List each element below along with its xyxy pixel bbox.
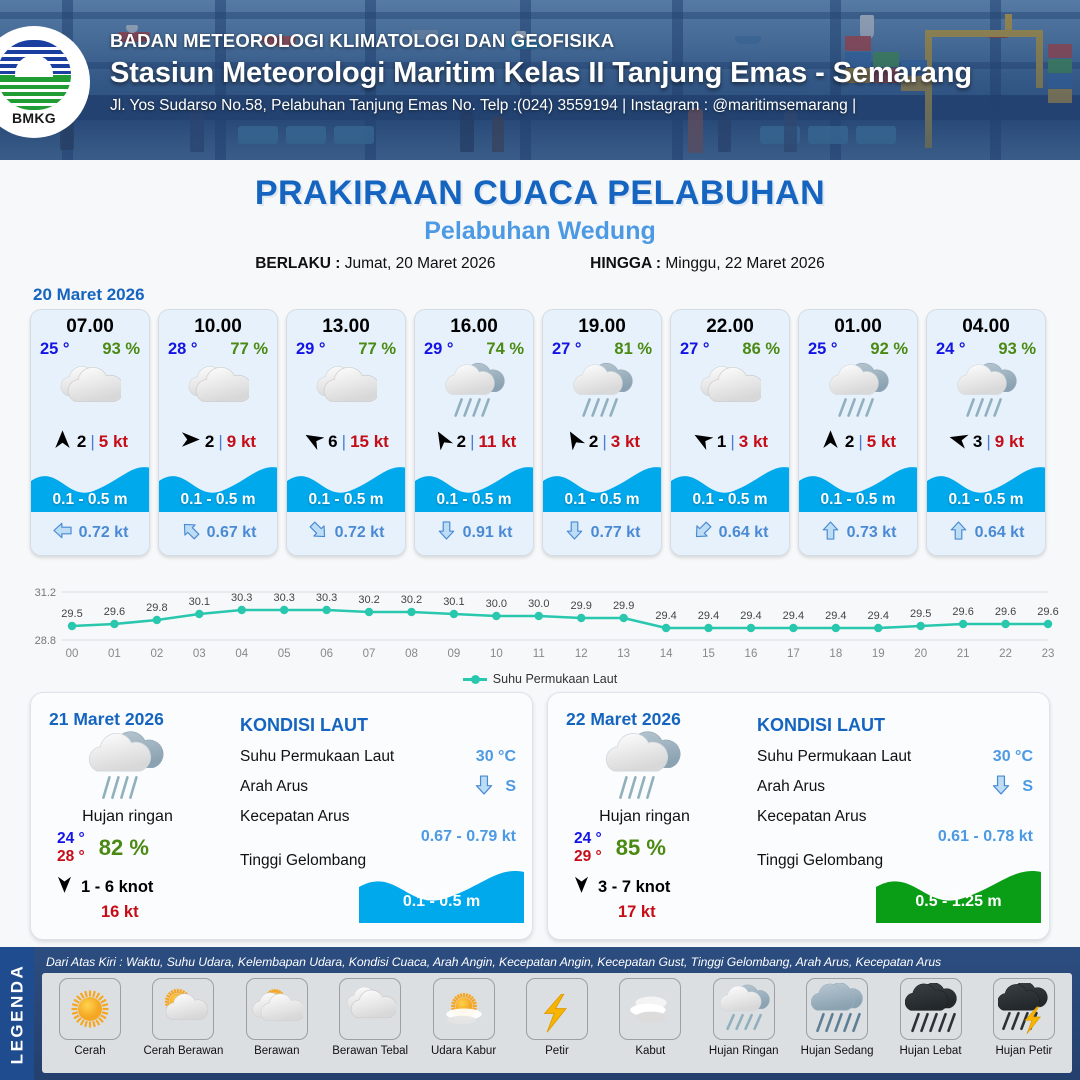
- bmkg-logo-text: BMKG: [0, 110, 71, 126]
- wind-direction-icon: [52, 429, 73, 450]
- legend-item-label: Kabut: [608, 1045, 692, 1057]
- validity-range: BERLAKU : Jumat, 20 Maret 2026 HINGGA : …: [0, 255, 1080, 273]
- legend-item-icon: [526, 978, 588, 1040]
- svg-text:29.4: 29.4: [868, 610, 889, 622]
- current-direction-icon: [820, 520, 841, 541]
- svg-text:29.4: 29.4: [825, 610, 846, 622]
- svg-text:29.5: 29.5: [910, 608, 931, 620]
- wind-separator: |: [730, 432, 734, 452]
- forecast-card: 13.00 29 ° 77 % 6 | 15 kt: [286, 309, 406, 556]
- panel-wind-arrow-icon: [55, 875, 74, 899]
- page-title: PRAKIRAAN CUACA PELABUHAN: [0, 174, 1080, 213]
- wind-arrow-icon: [432, 429, 453, 455]
- panel-condition: Hujan ringan: [49, 808, 236, 826]
- wind-speed: 5 kt: [99, 432, 128, 452]
- header-address: Jl. Yos Sudarso No.58, Pelabuhan Tanjung…: [110, 97, 1070, 115]
- legend-item-label: Hujan Ringan: [702, 1045, 786, 1057]
- current-speed-label: Kecepatan Arus: [240, 808, 349, 826]
- current-info: 0.73 kt: [799, 520, 917, 546]
- svg-text:22: 22: [999, 648, 1012, 660]
- svg-text:15: 15: [702, 648, 715, 660]
- svg-text:05: 05: [278, 648, 291, 660]
- air-temperature: 27 °: [552, 340, 582, 359]
- svg-text:08: 08: [405, 648, 418, 660]
- legend-item-icon: [152, 978, 214, 1040]
- air-temperature: 27 °: [680, 340, 710, 359]
- svg-text:20: 20: [914, 648, 927, 660]
- legend-item: Hujan Lebat: [889, 978, 973, 1057]
- svg-text:02: 02: [150, 648, 163, 660]
- forecast-card: 16.00 29 ° 74 % 2 | 11 kt: [414, 309, 534, 556]
- legend-item-label: Udara Kabur: [422, 1045, 506, 1057]
- panel-condition: Hujan ringan: [566, 808, 753, 826]
- legend-item: Kabut: [608, 978, 692, 1057]
- svg-text:17: 17: [787, 648, 800, 660]
- header-station-name: Stasiun Meteorologi Maritim Kelas II Tan…: [110, 57, 1070, 90]
- air-temperature: 25 °: [808, 340, 838, 359]
- legend-item: Hujan Petir: [982, 978, 1066, 1057]
- wind-direction-icon: [432, 429, 453, 450]
- wind-speed: 3 kt: [739, 432, 768, 452]
- svg-text:19: 19: [872, 648, 885, 660]
- weather-condition-icon: [159, 359, 277, 425]
- air-temperature: 29 °: [296, 340, 326, 359]
- wind-separator: |: [986, 432, 990, 452]
- sst-chart-legend: Suhu Permukaan Laut: [0, 672, 1080, 686]
- wind-speed: 5 kt: [867, 432, 896, 452]
- panel-wind-arrow-icon: [572, 875, 591, 899]
- current-speed: 0.91 kt: [463, 524, 513, 542]
- forecast-card: 22.00 27 ° 86 % 1 | 3 kt 0: [670, 309, 790, 556]
- panel-wind: 1 - 6 knot: [49, 875, 236, 899]
- current-arrow-icon: [52, 520, 73, 546]
- current-dir-value: S: [1022, 778, 1033, 796]
- legend-item: Hujan Sedang: [795, 978, 879, 1057]
- forecast-time: 22.00: [671, 310, 789, 338]
- legend-item-label: Hujan Lebat: [889, 1045, 973, 1057]
- wind-direction-icon: [692, 429, 713, 450]
- svg-text:14: 14: [660, 648, 673, 660]
- current-direction-icon: [473, 774, 495, 796]
- wave-height-label: Tinggi Gelombang: [757, 852, 883, 870]
- svg-text:07: 07: [363, 648, 376, 660]
- panel-humidity: 85 %: [616, 835, 666, 861]
- weather-condition-icon: [927, 359, 1045, 425]
- wind-direction-icon: [303, 429, 324, 450]
- forecast-time: 16.00: [415, 310, 533, 338]
- current-dir-label: Arah Arus: [757, 778, 825, 796]
- page-header: BMKG BADAN METEOROLOGI KLIMATOLOGI DAN G…: [0, 0, 1080, 160]
- wind-direction-icon: [180, 429, 201, 450]
- svg-text:00: 00: [66, 648, 79, 660]
- svg-text:21: 21: [957, 648, 970, 660]
- legend-item-label: Petir: [515, 1045, 599, 1057]
- wind-speed: 3 kt: [611, 432, 640, 452]
- forecast-day-label: 20 Maret 2026: [33, 285, 1080, 305]
- wind-info: 1 | 3 kt: [671, 425, 789, 459]
- current-speed: 0.67 kt: [207, 524, 257, 542]
- svg-text:16: 16: [745, 648, 758, 660]
- legend-item: Cerah Berawan: [141, 978, 225, 1057]
- legend-item-label: Hujan Sedang: [795, 1045, 879, 1057]
- sst-chart: 31.228.829.50029.60129.80230.10330.30430…: [20, 566, 1060, 671]
- svg-text:10: 10: [490, 648, 503, 660]
- current-info: 0.64 kt: [671, 520, 789, 546]
- legend-item-label: Cerah Berawan: [141, 1045, 225, 1057]
- panel-temp-min: 24 °: [57, 830, 85, 848]
- wind-info: 2 | 5 kt: [31, 425, 149, 459]
- wave-height-label: Tinggi Gelombang: [240, 852, 366, 870]
- panel-gust: 17 kt: [566, 903, 753, 922]
- wind-scale: 2: [77, 432, 86, 452]
- current-dir-label: Arah Arus: [240, 778, 308, 796]
- current-arrow-icon: [308, 520, 329, 546]
- legend-item: Cerah: [48, 978, 132, 1057]
- current-speed: 0.64 kt: [975, 524, 1025, 542]
- current-dir-value: S: [505, 778, 516, 796]
- svg-text:30.2: 30.2: [401, 594, 422, 606]
- svg-text:30.0: 30.0: [528, 598, 549, 610]
- sst-value: 30 °C: [993, 748, 1033, 766]
- sst-legend-marker-icon: [463, 678, 487, 681]
- wind-scale: 2: [457, 432, 466, 452]
- title-section: PRAKIRAAN CUACA PELABUHAN Pelabuhan Wedu…: [0, 160, 1080, 273]
- wind-separator: |: [602, 432, 606, 452]
- wind-info: 2 | 11 kt: [415, 425, 533, 459]
- wind-speed: 9 kt: [995, 432, 1024, 452]
- svg-text:29.9: 29.9: [613, 600, 634, 612]
- svg-text:01: 01: [108, 648, 121, 660]
- svg-text:29.4: 29.4: [783, 610, 804, 622]
- wave-height: 0.1 - 0.5 m: [415, 491, 533, 509]
- legend-item: Berawan: [235, 978, 319, 1057]
- current-info: 0.77 kt: [543, 520, 661, 546]
- legend-item-icon: [339, 978, 401, 1040]
- panel-date: 22 Maret 2026: [566, 709, 753, 730]
- forecast-time: 01.00: [799, 310, 917, 338]
- daily-panel-list: 21 Maret 2026 Hujan ringan 24 ° 28 ° 82 …: [0, 686, 1080, 940]
- wind-info: 2 | 5 kt: [799, 425, 917, 459]
- wave-height: 0.1 - 0.5 m: [287, 491, 405, 509]
- bmkg-logo-circle: [0, 40, 71, 110]
- svg-text:29.8: 29.8: [146, 602, 167, 614]
- weather-condition-icon: [287, 359, 405, 425]
- wind-separator: |: [342, 432, 346, 452]
- forecast-card: 04.00 24 ° 93 % 3 | 9 kt 0: [926, 309, 1046, 556]
- panel-wave-graphic: 0.5 - 1.25 m: [876, 865, 1041, 923]
- current-direction-icon: [692, 520, 713, 541]
- humidity: 86 %: [742, 340, 780, 359]
- legend-item-icon: [59, 978, 121, 1040]
- weather-condition-icon: [31, 359, 149, 425]
- legend-item-label: Berawan: [235, 1045, 319, 1057]
- legend-item-icon: [806, 978, 868, 1040]
- panel-gust: 16 kt: [49, 903, 236, 922]
- air-temperature: 24 °: [936, 340, 966, 359]
- svg-text:30.3: 30.3: [273, 592, 294, 604]
- panel-temp-min: 24 °: [574, 830, 602, 848]
- forecast-time: 07.00: [31, 310, 149, 338]
- current-arrow-icon: [180, 520, 201, 546]
- wind-direction-icon: [564, 429, 585, 450]
- legend-item: Petir: [515, 978, 599, 1057]
- current-speed: 0.72 kt: [79, 524, 129, 542]
- wind-speed: 9 kt: [227, 432, 256, 452]
- wind-scale: 2: [589, 432, 598, 452]
- wave-height: 0.1 - 0.5 m: [671, 491, 789, 509]
- svg-text:29.6: 29.6: [1037, 606, 1058, 618]
- current-arrow-icon: [692, 520, 713, 546]
- wind-separator: |: [218, 432, 222, 452]
- panel-wave-value: 0.1 - 0.5 m: [359, 893, 524, 911]
- current-direction-icon: [990, 774, 1012, 796]
- svg-text:29.6: 29.6: [952, 606, 973, 618]
- legend-item: Berawan Tebal: [328, 978, 412, 1057]
- wind-arrow-icon: [948, 429, 969, 455]
- svg-text:18: 18: [829, 648, 842, 660]
- legend-icon-strip: Cerah Cerah Berawan Beraw: [42, 973, 1072, 1073]
- wind-scale: 6: [328, 432, 337, 452]
- panel-wave-graphic: 0.1 - 0.5 m: [359, 865, 524, 923]
- header-organization: BADAN METEOROLOGI KLIMATOLOGI DAN GEOFIS…: [110, 30, 1070, 52]
- legend-item: Hujan Ringan: [702, 978, 786, 1057]
- sst-chart-svg: 31.228.829.50029.60129.80230.10330.30430…: [20, 566, 1060, 666]
- svg-text:30.3: 30.3: [231, 592, 252, 604]
- svg-text:04: 04: [235, 648, 248, 660]
- forecast-time: 13.00: [287, 310, 405, 338]
- air-temperature: 25 °: [40, 340, 70, 359]
- wind-info: 2 | 3 kt: [543, 425, 661, 459]
- legend-item-icon: [619, 978, 681, 1040]
- current-arrow-icon: [564, 520, 585, 546]
- svg-text:29.9: 29.9: [571, 600, 592, 612]
- weather-condition-icon: [543, 359, 661, 425]
- current-speed-value: 0.67 - 0.79 kt: [240, 828, 516, 846]
- current-speed: 0.77 kt: [591, 524, 641, 542]
- weather-condition-icon: [671, 359, 789, 425]
- hingga-label: HINGGA :: [590, 255, 661, 272]
- svg-text:29.6: 29.6: [104, 606, 125, 618]
- svg-text:30.3: 30.3: [316, 592, 337, 604]
- legend-tab: LEGENDA: [0, 947, 34, 1080]
- panel-weather-icon: [49, 732, 236, 804]
- wind-scale: 2: [205, 432, 214, 452]
- wave-height: 0.1 - 0.5 m: [543, 491, 661, 509]
- wind-arrow-icon: [180, 429, 201, 455]
- panel-weather-icon: [566, 732, 753, 804]
- svg-text:06: 06: [320, 648, 333, 660]
- wind-info: 6 | 15 kt: [287, 425, 405, 459]
- svg-text:12: 12: [575, 648, 588, 660]
- air-temperature: 28 °: [168, 340, 198, 359]
- forecast-time: 19.00: [543, 310, 661, 338]
- berlaku-label: BERLAKU :: [255, 255, 340, 272]
- humidity: 92 %: [870, 340, 908, 359]
- weather-condition-icon: [415, 359, 533, 425]
- forecast-card: 07.00 25 ° 93 % 2 | 5 kt 0: [30, 309, 150, 556]
- wind-speed: 11 kt: [479, 432, 517, 452]
- wind-arrow-icon: [52, 429, 73, 455]
- wind-arrow-icon: [820, 429, 841, 455]
- current-speed-value: 0.61 - 0.78 kt: [757, 828, 1033, 846]
- svg-text:29.6: 29.6: [995, 606, 1016, 618]
- svg-text:29.4: 29.4: [698, 610, 719, 622]
- panel-temp-max: 28 °: [57, 848, 85, 866]
- wind-scale: 2: [845, 432, 854, 452]
- svg-text:30.0: 30.0: [486, 598, 507, 610]
- current-speed: 0.72 kt: [335, 524, 385, 542]
- panel-date: 21 Maret 2026: [49, 709, 236, 730]
- sst-label: Suhu Permukaan Laut: [757, 748, 911, 766]
- sst-value: 30 °C: [476, 748, 516, 766]
- wind-direction-icon: [55, 875, 74, 894]
- legend-item-icon: [900, 978, 962, 1040]
- forecast-card: 01.00 25 ° 92 % 2 | 5 kt 0: [798, 309, 918, 556]
- current-direction-icon: [52, 520, 73, 541]
- daily-forecast-panel: 21 Maret 2026 Hujan ringan 24 ° 28 ° 82 …: [30, 692, 533, 940]
- forecast-time: 10.00: [159, 310, 277, 338]
- air-temperature: 29 °: [424, 340, 454, 359]
- wave-height: 0.1 - 0.5 m: [927, 491, 1045, 509]
- weather-condition-icon: [799, 359, 917, 425]
- port-name: Pelabuhan Wedung: [0, 217, 1080, 246]
- svg-text:13: 13: [617, 648, 630, 660]
- wind-arrow-icon: [692, 429, 713, 455]
- current-info: 0.72 kt: [287, 520, 405, 546]
- forecast-card-list: 07.00 25 ° 93 % 2 | 5 kt 0: [0, 309, 1080, 556]
- legend-item-label: Hujan Petir: [982, 1045, 1066, 1057]
- current-info: 0.72 kt: [31, 520, 149, 546]
- svg-text:28.8: 28.8: [35, 635, 56, 647]
- svg-text:03: 03: [193, 648, 206, 660]
- panel-humidity: 82 %: [99, 835, 149, 861]
- humidity: 74 %: [486, 340, 524, 359]
- current-speed-label: Kecepatan Arus: [757, 808, 866, 826]
- wind-direction-icon: [820, 429, 841, 450]
- legend-item-label: Berawan Tebal: [328, 1045, 412, 1057]
- sea-condition-title: KONDISI LAUT: [240, 715, 516, 736]
- wind-arrow-icon: [564, 429, 585, 455]
- humidity: 81 %: [614, 340, 652, 359]
- wave-height: 0.1 - 0.5 m: [159, 491, 277, 509]
- current-info: 0.67 kt: [159, 520, 277, 546]
- svg-text:29.5: 29.5: [61, 608, 82, 620]
- forecast-card: 19.00 27 ° 81 % 2 | 3 kt 0: [542, 309, 662, 556]
- current-direction-icon: [436, 520, 457, 541]
- legend-item: Udara Kabur: [422, 978, 506, 1057]
- panel-wind-range: 1 - 6 knot: [81, 878, 153, 897]
- svg-text:11: 11: [533, 648, 545, 660]
- legend-section: LEGENDA Dari Atas Kiri : Waktu, Suhu Uda…: [0, 947, 1080, 1080]
- current-speed: 0.64 kt: [719, 524, 769, 542]
- sea-condition-title: KONDISI LAUT: [757, 715, 1033, 736]
- legend-item-icon: [433, 978, 495, 1040]
- panel-temp-max: 29 °: [574, 848, 602, 866]
- current-arrow-icon: [820, 520, 841, 546]
- wave-height: 0.1 - 0.5 m: [799, 491, 917, 509]
- panel-wind: 3 - 7 knot: [566, 875, 753, 899]
- current-arrow-icon: [948, 520, 969, 546]
- wind-separator: |: [90, 432, 94, 452]
- current-info: 0.64 kt: [927, 520, 1045, 546]
- current-direction-icon: [564, 520, 585, 541]
- svg-text:31.2: 31.2: [35, 587, 56, 599]
- wind-speed: 15 kt: [350, 432, 389, 452]
- panel-wave-value: 0.5 - 1.25 m: [876, 893, 1041, 911]
- legend-item-icon: [993, 978, 1055, 1040]
- humidity: 77 %: [358, 340, 396, 359]
- panel-current-arrow-icon: [990, 774, 1012, 801]
- legend-note: Dari Atas Kiri : Waktu, Suhu Udara, Kele…: [42, 953, 1072, 973]
- wind-separator: |: [858, 432, 862, 452]
- wind-scale: 1: [717, 432, 726, 452]
- wind-separator: |: [470, 432, 474, 452]
- current-arrow-icon: [436, 520, 457, 546]
- wind-info: 2 | 9 kt: [159, 425, 277, 459]
- sst-label: Suhu Permukaan Laut: [240, 748, 394, 766]
- humidity: 93 %: [998, 340, 1036, 359]
- svg-text:29.4: 29.4: [655, 610, 676, 622]
- wind-direction-icon: [572, 875, 591, 894]
- forecast-card: 10.00 28 ° 77 % 2 | 9 kt 0: [158, 309, 278, 556]
- svg-text:29.4: 29.4: [740, 610, 761, 622]
- svg-text:09: 09: [448, 648, 461, 660]
- forecast-time: 04.00: [927, 310, 1045, 338]
- wind-direction-icon: [948, 429, 969, 450]
- legend-item-label: Cerah: [48, 1045, 132, 1057]
- legend-tab-label: LEGENDA: [7, 963, 27, 1064]
- humidity: 77 %: [230, 340, 268, 359]
- panel-wind-range: 3 - 7 knot: [598, 878, 670, 897]
- svg-text:23: 23: [1042, 648, 1055, 660]
- legend-item-icon: [713, 978, 775, 1040]
- svg-text:30.1: 30.1: [189, 596, 210, 608]
- daily-forecast-panel: 22 Maret 2026 Hujan ringan 24 ° 29 ° 85 …: [547, 692, 1050, 940]
- hingga-value: Minggu, 22 Maret 2026: [665, 255, 824, 272]
- current-speed: 0.73 kt: [847, 524, 897, 542]
- svg-text:30.1: 30.1: [443, 596, 464, 608]
- current-direction-icon: [180, 520, 201, 541]
- panel-current-arrow-icon: [473, 774, 495, 801]
- legend-item-icon: [246, 978, 308, 1040]
- wind-info: 3 | 9 kt: [927, 425, 1045, 459]
- current-direction-icon: [308, 520, 329, 541]
- wind-arrow-icon: [303, 429, 324, 455]
- sst-legend-label: Suhu Permukaan Laut: [493, 672, 617, 686]
- svg-text:30.2: 30.2: [358, 594, 379, 606]
- current-info: 0.91 kt: [415, 520, 533, 546]
- humidity: 93 %: [102, 340, 140, 359]
- wave-height: 0.1 - 0.5 m: [31, 491, 149, 509]
- wind-scale: 3: [973, 432, 982, 452]
- current-direction-icon: [948, 520, 969, 541]
- berlaku-value: Jumat, 20 Maret 2026: [345, 255, 496, 272]
